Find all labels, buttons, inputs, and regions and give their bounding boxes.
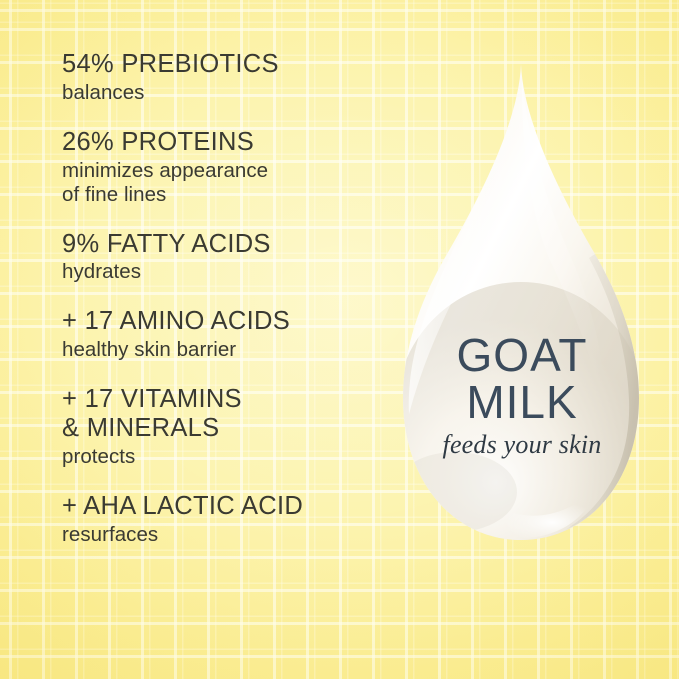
list-item: + 17 AMINO ACIDS healthy skin barrier [62, 307, 382, 362]
list-item: + 17 VITAMINS & MINERALS protects [62, 385, 382, 469]
benefit-description: hydrates [62, 260, 382, 284]
benefit-title: 54% PREBIOTICS [62, 50, 382, 79]
list-item: 54% PREBIOTICS balances [62, 50, 382, 105]
benefit-list: 54% PREBIOTICS balances 26% PROTEINS min… [62, 50, 382, 547]
list-item: 9% FATTY ACIDS hydrates [62, 230, 382, 285]
benefit-description: minimizes appearance of fine lines [62, 159, 382, 207]
milk-droplet-icon [383, 62, 661, 554]
benefit-title: 9% FATTY ACIDS [62, 230, 382, 259]
benefit-description: healthy skin barrier [62, 338, 382, 362]
product-infographic: 54% PREBIOTICS balances 26% PROTEINS min… [0, 0, 679, 679]
benefit-description: protects [62, 445, 382, 469]
benefit-title: 26% PROTEINS [62, 128, 382, 157]
list-item: + AHA LACTIC ACID resurfaces [62, 492, 382, 547]
benefit-title: + AHA LACTIC ACID [62, 492, 382, 521]
benefit-title: + 17 VITAMINS & MINERALS [62, 385, 382, 443]
benefit-description: resurfaces [62, 523, 382, 547]
benefit-title: + 17 AMINO ACIDS [62, 307, 382, 336]
milk-droplet: GOAT MILK feeds your skin [383, 62, 661, 554]
benefit-description: balances [62, 81, 382, 105]
list-item: 26% PROTEINS minimizes appearance of fin… [62, 128, 382, 207]
droplet-inner-shadow [393, 452, 517, 532]
